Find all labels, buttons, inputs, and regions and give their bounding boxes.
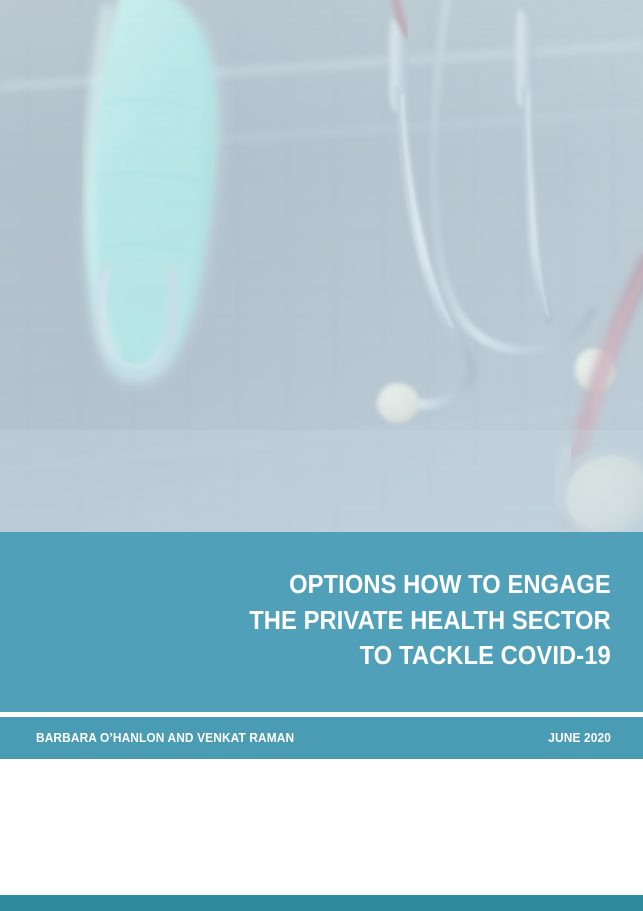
cover-photograph <box>0 0 643 532</box>
bottom-accent-band <box>0 895 643 911</box>
author-date-row: BARBARA O’HANLON AND VENKAT RAMAN JUNE 2… <box>36 717 611 759</box>
photo-illustration <box>0 0 643 532</box>
cover-white-space <box>0 759 643 895</box>
photo-bottom-fade <box>0 430 643 532</box>
title-line-1: OPTIONS HOW TO ENGAGE <box>249 568 611 604</box>
author-names: BARBARA O’HANLON AND VENKAT RAMAN <box>36 731 294 745</box>
title-band: OPTIONS HOW TO ENGAGE THE PRIVATE HEALTH… <box>0 532 643 712</box>
cover-title: OPTIONS HOW TO ENGAGE THE PRIVATE HEALTH… <box>222 568 611 675</box>
title-line-2: THE PRIVATE HEALTH SECTOR <box>249 604 611 640</box>
title-line-3: TO TACKLE COVID-19 <box>249 639 611 675</box>
author-date-band: BARBARA O’HANLON AND VENKAT RAMAN JUNE 2… <box>0 717 643 759</box>
report-cover-page: OPTIONS HOW TO ENGAGE THE PRIVATE HEALTH… <box>0 0 643 911</box>
publication-date: JUNE 2020 <box>548 731 611 745</box>
